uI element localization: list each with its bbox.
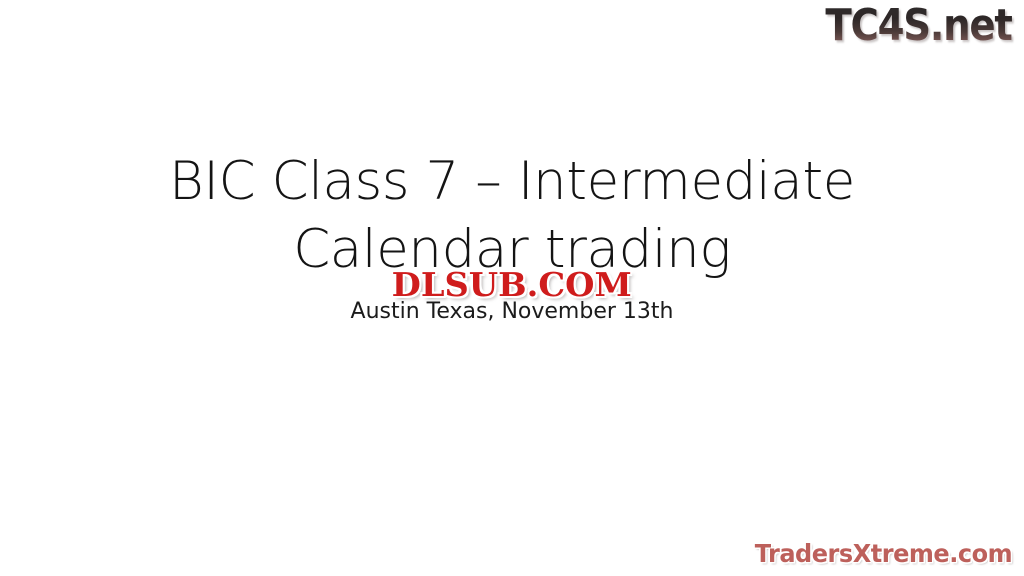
page-title: BIC Class 7 – Intermediate Calendar trad… <box>96 148 928 284</box>
tradersxtreme-watermark: TradersXtreme.com <box>755 540 1012 568</box>
presentation-slide: TC4S.net BIC Class 7 – Intermediate Cale… <box>0 0 1024 576</box>
title-block: BIC Class 7 – Intermediate Calendar trad… <box>96 148 928 326</box>
slide-subtitle: Austin Texas, November 13th <box>96 284 928 326</box>
tc4s-net-logo: TC4S.net <box>826 2 1012 50</box>
